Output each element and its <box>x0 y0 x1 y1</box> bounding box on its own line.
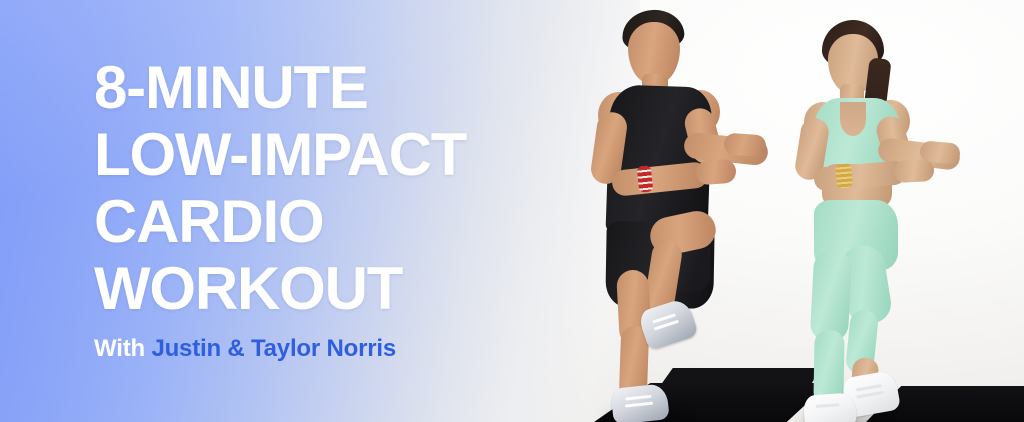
byline: With Justin & Taylor Norris <box>94 335 614 363</box>
workout-promo-banner: 8-MINUTE LOW-IMPACT CARDIO WORKOUT With … <box>0 0 1024 422</box>
sneaker-lace <box>625 402 653 408</box>
headline-line-2: LOW-IMPACT <box>94 121 614 188</box>
sneaker-lace <box>625 395 651 401</box>
headline-line-4: WORKOUT <box>94 255 614 322</box>
headline-block: 8-MINUTE LOW-IMPACT CARDIO WORKOUT With … <box>94 54 614 363</box>
headline-line-1: 8-MINUTE <box>94 54 614 121</box>
male-standing-sneaker <box>610 383 669 422</box>
female-standing-thigh <box>810 249 853 343</box>
male-right-hand <box>723 133 766 158</box>
female-standing-sneaker <box>803 392 857 422</box>
female-left-hand <box>893 159 934 183</box>
female-gold-bangles <box>835 163 853 188</box>
byline-trainer-names: Justin & Taylor Norris <box>151 335 396 362</box>
sneaker-lace <box>816 403 840 408</box>
headline-line-3: CARDIO <box>94 188 614 255</box>
sneaker-lace <box>856 391 884 399</box>
male-left-hand <box>695 159 737 186</box>
male-beaded-bracelet <box>637 165 654 192</box>
female-trainer-figure <box>778 18 1016 422</box>
byline-prefix: With <box>94 335 151 362</box>
sneaker-lace <box>856 384 882 391</box>
female-bra-neckline <box>840 102 866 136</box>
